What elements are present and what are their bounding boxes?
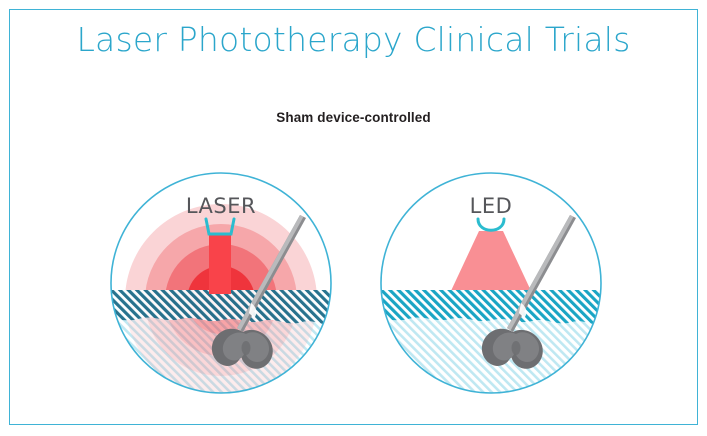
laser-beam-column — [209, 234, 231, 294]
diagram-panel-led: LED — [380, 172, 602, 394]
laser-label: LASER — [110, 194, 332, 218]
diagram-panel-laser: LASER — [110, 172, 332, 394]
slide-subtitle: Sham device-controlled — [0, 110, 707, 125]
led-emitter-icon — [478, 219, 504, 230]
led-label: LED — [380, 194, 602, 218]
page-title: Laser Phototherapy Clinical Trials — [0, 20, 707, 59]
slide-canvas: Laser Phototherapy Clinical Trials Sham … — [0, 0, 707, 436]
